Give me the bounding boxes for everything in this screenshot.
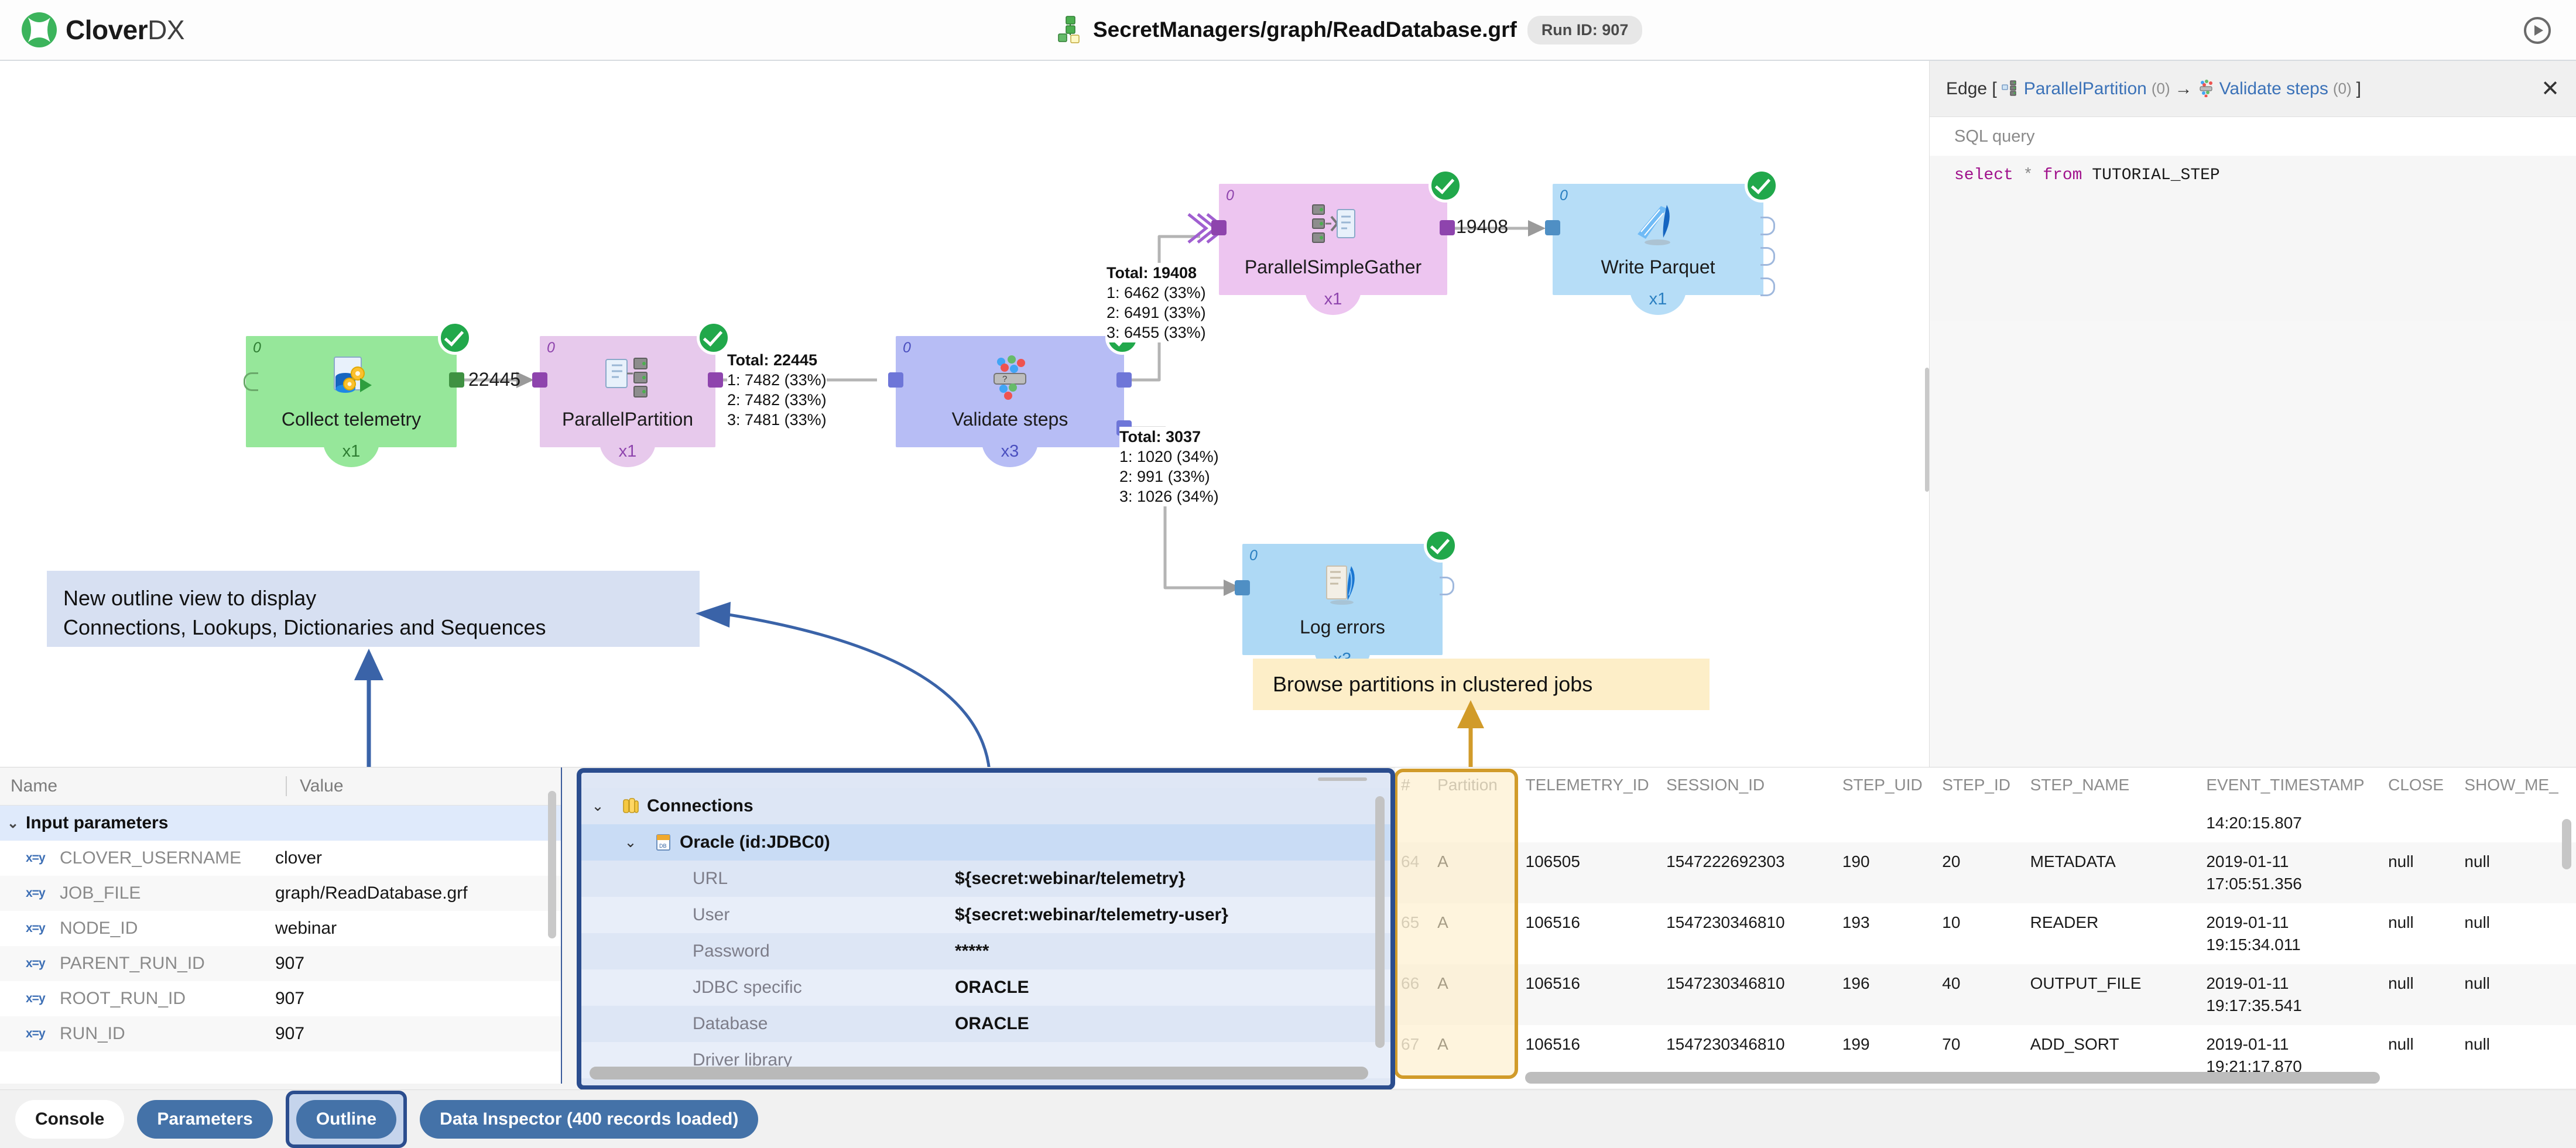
data-inspector-table: # Partition TELEMETRY_ID SESSION_ID STEP… bbox=[1395, 767, 2576, 1086]
cell-index bbox=[1395, 804, 1431, 842]
event-date: 2019-01-11 bbox=[2206, 974, 2289, 992]
edge-prefix: Edge [ bbox=[1946, 79, 1997, 99]
top-bar: CloverDX SecretManagers/graph/ReadDataba… bbox=[0, 0, 2576, 61]
outline-horizontal-scrollbar[interactable] bbox=[590, 1067, 1368, 1080]
close-icon[interactable]: ✕ bbox=[2541, 78, 2560, 100]
node-log-errors[interactable]: 0 Log errors x3 bbox=[1242, 544, 1443, 655]
outline-panel[interactable]: ⌄ Connections ⌄ DB Oracle (id:JDBC0) bbox=[577, 768, 1395, 1090]
edge-source-link[interactable]: ParallelPartition bbox=[2024, 79, 2147, 99]
edge-details-title: Edge [ ParallelPartition (0) → bbox=[1946, 79, 2361, 99]
run-id-badge: Run ID: 907 bbox=[1527, 16, 1643, 44]
event-time: 19:15:34.011 bbox=[2206, 935, 2300, 954]
parameters-panel[interactable]: Name Value ⌄ Input parameters x=y CLOVER… bbox=[0, 767, 562, 1084]
column-header-step-uid[interactable]: STEP_UID bbox=[1837, 767, 1936, 804]
status-ok-icon bbox=[438, 321, 472, 355]
cell-show-me: null bbox=[2458, 964, 2576, 1025]
sql-star: * bbox=[2023, 166, 2033, 184]
node-multiplicity: x1 bbox=[323, 441, 379, 467]
sql-keyword-from: from bbox=[2043, 166, 2082, 184]
play-circle-icon[interactable] bbox=[2523, 16, 2551, 44]
cell-step-id bbox=[1936, 804, 2024, 842]
parameters-vertical-scrollbar[interactable] bbox=[548, 791, 556, 938]
parameter-name: RUN_ID bbox=[60, 1024, 275, 1044]
cell-step-uid: 190 bbox=[1837, 842, 1936, 903]
node-label: Validate steps bbox=[896, 409, 1124, 430]
outline-connection-row[interactable]: ⌄ DB Oracle (id:JDBC0) bbox=[581, 824, 1390, 861]
edge-stats-total: Total: 19408 bbox=[1107, 264, 1197, 282]
cell-show-me: null bbox=[2458, 1025, 2576, 1086]
parameter-row[interactable]: x=y RUN_ID 907 bbox=[0, 1016, 561, 1051]
node-parallel-simple-gather[interactable]: 0 ParallelSimpleGather x1 bbox=[1219, 184, 1447, 295]
cell-index: 66 bbox=[1395, 964, 1431, 1025]
node-port-label: 0 bbox=[547, 340, 555, 357]
outline-property-row[interactable]: URL ${secret:webinar/telemetry} bbox=[581, 861, 1390, 897]
cell-partition: A bbox=[1431, 842, 1519, 903]
event-date: 2019-01-11 bbox=[2206, 852, 2289, 871]
parameter-value: clover bbox=[275, 848, 322, 868]
annotation-outline-callout: New outline view to display Connections,… bbox=[47, 571, 700, 647]
log-feather-icon bbox=[1318, 561, 1366, 609]
edge-stats-line: 3: 7481 (33%) bbox=[727, 410, 827, 430]
xy-variable-icon: x=y bbox=[26, 921, 60, 935]
cell-index: 64 bbox=[1395, 842, 1431, 903]
clover-logo-icon bbox=[21, 12, 57, 48]
cell-session-id: 1547230346810 bbox=[1660, 964, 1837, 1025]
annotation-text: Browse partitions in clustered jobs bbox=[1273, 672, 1592, 697]
node-output-port[interactable] bbox=[1440, 220, 1455, 235]
node-output-stub bbox=[1760, 277, 1775, 296]
event-date: 2019-01-11 bbox=[2206, 913, 2289, 931]
edge-stats-line: 1: 6462 (33%) bbox=[1107, 283, 1206, 303]
column-header-step-id[interactable]: STEP_ID bbox=[1936, 767, 2024, 804]
column-header-show-me[interactable]: SHOW_ME_ bbox=[2458, 767, 2576, 804]
edge-target-port: (0) bbox=[2333, 80, 2352, 98]
edge-details-panel: Edge [ ParallelPartition (0) → bbox=[1929, 61, 2576, 767]
edge-stats-validate-out1: Total: 3037 1: 1020 (34%) 2: 991 (33%) 3… bbox=[1119, 427, 1219, 506]
partition-icon bbox=[604, 354, 652, 402]
cell-step-id: 40 bbox=[1936, 964, 2024, 1025]
bottom-tab-bar: Console Parameters Outline Data Inspecto… bbox=[0, 1089, 2576, 1148]
node-collect-telemetry[interactable]: 0 Collect telemetry x1 bbox=[246, 336, 457, 447]
outline-connection-label: Oracle (id:JDBC0) bbox=[680, 832, 830, 852]
property-label: JDBC specific bbox=[693, 978, 802, 998]
property-label: User bbox=[693, 905, 729, 925]
status-ok-icon bbox=[1429, 169, 1462, 203]
outline-vertical-scrollbar[interactable] bbox=[1375, 796, 1385, 1048]
cell-partition: A bbox=[1431, 964, 1519, 1025]
parameter-name: PARENT_RUN_ID bbox=[60, 954, 275, 974]
cell-session-id bbox=[1660, 804, 1837, 842]
annotation-partitions-callout: Browse partitions in clustered jobs bbox=[1253, 659, 1710, 710]
edge-stats-line: 1: 1020 (34%) bbox=[1119, 447, 1219, 467]
node-input-port[interactable] bbox=[1545, 220, 1560, 235]
node-output-stub bbox=[1760, 247, 1775, 266]
cell-session-id: 1547230346810 bbox=[1660, 903, 1837, 964]
cell-partition bbox=[1431, 804, 1519, 842]
page-title: SecretManagers/graph/ReadDatabase.grf bbox=[1093, 18, 1517, 42]
database-read-icon bbox=[327, 354, 375, 402]
cell-close: null bbox=[2382, 903, 2458, 964]
tab-outline-highlight: Outline bbox=[286, 1091, 407, 1148]
node-label: Write Parquet bbox=[1553, 256, 1763, 278]
node-output-stub bbox=[1760, 217, 1775, 235]
property-label: Database bbox=[693, 1014, 768, 1034]
cell-step-uid: 196 bbox=[1837, 964, 1936, 1025]
edge-record-count: 19408 bbox=[1456, 216, 1508, 238]
data-inspector-panel[interactable]: # Partition TELEMETRY_ID SESSION_ID STEP… bbox=[1395, 767, 2576, 1088]
column-header-step-name[interactable]: STEP_NAME bbox=[2025, 767, 2201, 804]
cell-event-timestamp: 14:20:15.807 bbox=[2200, 804, 2382, 842]
column-header-session-id[interactable]: SESSION_ID bbox=[1660, 767, 1837, 804]
sql-query-code: select * from TUTORIAL_STEP bbox=[1930, 156, 2576, 321]
validate-node-icon bbox=[2197, 79, 2215, 99]
tab-parameters[interactable]: Parameters bbox=[137, 1100, 272, 1139]
outline-root-label: Connections bbox=[647, 796, 753, 816]
cell-session-id: 1547222692303 bbox=[1660, 842, 1837, 903]
cell-telemetry-id: 106516 bbox=[1520, 903, 1661, 964]
node-multiplicity: x1 bbox=[1630, 289, 1686, 315]
property-label: Password bbox=[693, 941, 770, 961]
cell-telemetry-id: 106516 bbox=[1520, 964, 1661, 1025]
parameter-row[interactable]: x=y NODE_ID webinar bbox=[0, 911, 561, 946]
parameter-value: webinar bbox=[275, 919, 337, 938]
node-input-port[interactable] bbox=[1211, 220, 1227, 235]
validate-nodes-icon: ? bbox=[986, 354, 1034, 402]
cell-partition: A bbox=[1431, 1025, 1519, 1086]
cell-close: null bbox=[2382, 1025, 2458, 1086]
tab-data-inspector[interactable]: Data Inspector (400 records loaded) bbox=[420, 1100, 758, 1139]
outline-property-row[interactable]: Database ORACLE bbox=[581, 1006, 1390, 1042]
annotation-line-2: Connections, Lookups, Dictionaries and S… bbox=[63, 613, 683, 642]
cell-step-id: 20 bbox=[1936, 842, 2024, 903]
tab-console[interactable]: Console bbox=[15, 1100, 124, 1139]
node-multiplicity: x1 bbox=[600, 441, 656, 467]
edge-source-port: (0) bbox=[2152, 80, 2170, 98]
xy-variable-icon: x=y bbox=[26, 957, 60, 971]
node-input-port[interactable] bbox=[1235, 580, 1250, 595]
svg-text:DB: DB bbox=[659, 843, 667, 849]
jdbc-db-icon: DB bbox=[647, 832, 680, 852]
parameters-group-row[interactable]: ⌄ Input parameters bbox=[0, 806, 561, 841]
parameter-row[interactable]: x=y PARENT_RUN_ID 907 bbox=[0, 946, 561, 981]
sql-keyword-select: select bbox=[1954, 166, 2013, 184]
graph-title-wrap: SecretManagers/graph/ReadDatabase.grf Ru… bbox=[1057, 15, 1642, 44]
cell-close: null bbox=[2382, 842, 2458, 903]
node-write-parquet[interactable]: 0 Write Parquet x1 bbox=[1553, 184, 1763, 295]
cell-step-name bbox=[2025, 804, 2201, 842]
edge-stats-partition-out: Total: 22445 1: 7482 (33%) 2: 7482 (33%)… bbox=[727, 350, 827, 430]
parameter-name: JOB_FILE bbox=[60, 883, 275, 903]
node-output-port[interactable] bbox=[449, 372, 464, 388]
logo-text-main: Clover bbox=[66, 15, 148, 45]
property-value: ${secret:webinar/telemetry-user} bbox=[955, 905, 1228, 925]
node-label: Collect telemetry bbox=[246, 409, 457, 430]
parameter-row[interactable]: x=y CLOVER_USERNAME clover bbox=[0, 841, 561, 876]
node-port-label: 0 bbox=[1226, 187, 1234, 204]
arrow-right-icon: → bbox=[2175, 79, 2193, 99]
property-value: ${secret:webinar/telemetry} bbox=[955, 869, 1186, 889]
outline-property-row[interactable]: Password ***** bbox=[581, 933, 1390, 969]
partition-node-icon bbox=[2002, 79, 2019, 99]
status-ok-icon bbox=[1745, 169, 1779, 203]
property-value: ORACLE bbox=[955, 1014, 1029, 1034]
parquet-feather-icon bbox=[1634, 201, 1682, 249]
cell-index: 65 bbox=[1395, 903, 1431, 964]
parameter-name: NODE_ID bbox=[60, 919, 275, 938]
edge-stats-total: Total: 22445 bbox=[727, 351, 817, 369]
node-label: ParallelSimpleGather bbox=[1219, 256, 1447, 278]
cell-event-timestamp: 2019-01-1119:17:35.541 bbox=[2200, 964, 2382, 1025]
svg-text:?: ? bbox=[1002, 374, 1007, 384]
cell-event-timestamp: 2019-01-1119:15:34.011 bbox=[2200, 903, 2382, 964]
outline-root-row[interactable]: ⌄ Connections bbox=[581, 788, 1390, 824]
node-port-label: 0 bbox=[1249, 547, 1258, 564]
column-header-close[interactable]: CLOSE bbox=[2382, 767, 2458, 804]
node-port-label: 0 bbox=[903, 340, 911, 357]
parameter-value: graph/ReadDatabase.grf bbox=[275, 883, 468, 903]
status-ok-icon bbox=[697, 321, 731, 355]
node-output-port-0[interactable] bbox=[1116, 372, 1132, 388]
cell-step-name: READER bbox=[2025, 903, 2201, 964]
graph-file-icon bbox=[1057, 15, 1083, 44]
cell-close bbox=[2382, 804, 2458, 842]
cell-telemetry-id: 106505 bbox=[1520, 842, 1661, 903]
node-output-stub bbox=[1440, 577, 1454, 595]
cell-index: 67 bbox=[1395, 1025, 1431, 1086]
edge-details-header: Edge [ ParallelPartition (0) → bbox=[1930, 61, 2576, 117]
connections-folder-icon bbox=[614, 796, 647, 816]
parameter-name: CLOVER_USERNAME bbox=[60, 848, 275, 868]
cell-event-timestamp: 2019-01-1117:05:51.356 bbox=[2200, 842, 2382, 903]
node-parallel-partition[interactable]: 0 ParallelPartition x1 bbox=[540, 336, 715, 447]
node-port-label: 0 bbox=[1560, 187, 1568, 204]
xy-variable-icon: x=y bbox=[26, 992, 60, 1006]
cell-step-uid: 193 bbox=[1837, 903, 1936, 964]
xy-variable-icon: x=y bbox=[26, 851, 60, 865]
node-label: Log errors bbox=[1242, 616, 1443, 638]
parameter-row[interactable]: x=y ROOT_RUN_ID 907 bbox=[0, 981, 561, 1016]
chevron-down-icon[interactable]: ⌄ bbox=[0, 815, 26, 832]
chevron-down-icon[interactable]: ⌄ bbox=[581, 797, 614, 815]
edge-stats-line: 1: 7482 (33%) bbox=[727, 370, 827, 390]
node-input-port[interactable] bbox=[888, 372, 903, 388]
table-row[interactable]: 66 A 106516 1547230346810 196 40 OUTPUT_… bbox=[1395, 964, 2576, 1025]
cell-show-me: null bbox=[2458, 903, 2576, 964]
app-logo[interactable]: CloverDX bbox=[21, 12, 184, 48]
parameters-group-label: Input parameters bbox=[26, 813, 260, 833]
status-ok-icon bbox=[1424, 529, 1458, 563]
column-header-telemetry-id[interactable]: TELEMETRY_ID bbox=[1520, 767, 1661, 804]
bottom-dock: Name Value ⌄ Input parameters x=y CLOVER… bbox=[0, 767, 2576, 1148]
node-port-label: 0 bbox=[253, 340, 261, 357]
edge-stats-line: 2: 991 (33%) bbox=[1119, 467, 1219, 486]
chevron-down-icon[interactable]: ⌄ bbox=[614, 834, 647, 851]
parameter-name: ROOT_RUN_ID bbox=[60, 989, 275, 1009]
edge-stats-line: 2: 7482 (33%) bbox=[727, 390, 827, 410]
logo-text-accent: DX bbox=[148, 15, 184, 45]
canvas-vertical-scrollbar[interactable] bbox=[1925, 368, 1929, 492]
event-time: 19:17:35.541 bbox=[2206, 996, 2302, 1015]
panel-resize-grip[interactable] bbox=[1318, 777, 1367, 781]
edge-suffix: ] bbox=[2356, 79, 2361, 99]
node-input-port-stub bbox=[244, 372, 258, 391]
column-header-event-timestamp[interactable]: EVENT_TIMESTAMP bbox=[2200, 767, 2382, 804]
parameter-value: 907 bbox=[275, 954, 304, 974]
node-input-port[interactable] bbox=[532, 372, 547, 388]
cell-close: null bbox=[2382, 964, 2458, 1025]
table-row[interactable]: 64 A 106505 1547222692303 190 20 METADAT… bbox=[1395, 842, 2576, 903]
cell-step-name: METADATA bbox=[2025, 842, 2201, 903]
node-multiplicity: x1 bbox=[1305, 289, 1361, 315]
table-row[interactable]: 65 A 106516 1547230346810 193 10 READER … bbox=[1395, 903, 2576, 964]
cell-show-me bbox=[2458, 804, 2576, 842]
property-value: ORACLE bbox=[955, 978, 1029, 998]
edge-stats-line: 2: 6491 (33%) bbox=[1107, 303, 1206, 323]
edge-stats-total: Total: 3037 bbox=[1119, 428, 1201, 446]
xy-variable-icon: x=y bbox=[26, 1027, 60, 1041]
column-header-partition[interactable]: Partition bbox=[1431, 767, 1519, 804]
inspector-horizontal-scrollbar[interactable] bbox=[1525, 1072, 2380, 1084]
sql-table-name: TUTORIAL_STEP bbox=[2092, 166, 2219, 184]
property-value: ***** bbox=[955, 941, 989, 961]
sql-query-section-label: SQL query bbox=[1930, 117, 2576, 156]
xy-variable-icon: x=y bbox=[26, 886, 60, 900]
column-header-value: Value bbox=[287, 776, 344, 796]
inspector-vertical-scrollbar[interactable] bbox=[2562, 819, 2571, 869]
cell-show-me: null bbox=[2458, 842, 2576, 903]
node-validate-steps[interactable]: 0 ? Validate steps x3 bbox=[896, 336, 1124, 447]
outline-property-row[interactable]: User ${secret:webinar/telemetry-user} bbox=[581, 897, 1390, 933]
edge-target-link[interactable]: Validate steps bbox=[2219, 79, 2328, 99]
gather-icon bbox=[1309, 201, 1357, 249]
parameter-row[interactable]: x=y JOB_FILE graph/ReadDatabase.grf bbox=[0, 876, 561, 911]
column-header-name: Name bbox=[0, 776, 286, 796]
cell-telemetry-id bbox=[1520, 804, 1661, 842]
property-label: URL bbox=[693, 869, 728, 889]
annotation-line-1: New outline view to display bbox=[63, 584, 683, 613]
event-date: 2019-01-11 bbox=[2206, 1035, 2289, 1053]
edge-stats-validate-out0: Total: 19408 1: 6462 (33%) 2: 6491 (33%)… bbox=[1107, 263, 1206, 342]
node-label: ParallelPartition bbox=[540, 409, 715, 430]
outline-property-row[interactable]: JDBC specific ORACLE bbox=[581, 969, 1390, 1006]
parameter-value: 907 bbox=[275, 989, 304, 1009]
cell-step-uid bbox=[1837, 804, 1936, 842]
cell-step-id: 10 bbox=[1936, 903, 2024, 964]
edge-stats-line: 3: 6455 (33%) bbox=[1107, 323, 1206, 342]
column-header-index[interactable]: # bbox=[1395, 767, 1431, 804]
table-header-row: # Partition TELEMETRY_ID SESSION_ID STEP… bbox=[1395, 767, 2576, 804]
parameter-value: 907 bbox=[275, 1024, 304, 1044]
tab-outline[interactable]: Outline bbox=[296, 1100, 396, 1139]
event-time: 17:05:51.356 bbox=[2206, 875, 2302, 893]
node-output-port[interactable] bbox=[708, 372, 723, 388]
cell-step-name: OUTPUT_FILE bbox=[2025, 964, 2201, 1025]
parameters-table-header: Name Value bbox=[0, 767, 561, 806]
node-multiplicity: x3 bbox=[982, 441, 1038, 467]
edge-record-count: 22445 bbox=[468, 369, 520, 390]
cell-partition: A bbox=[1431, 903, 1519, 964]
edge-stats-line: 3: 1026 (34%) bbox=[1119, 486, 1219, 506]
table-row-partial[interactable]: 14:20:15.807 bbox=[1395, 804, 2576, 842]
app-logo-text: CloverDX bbox=[66, 14, 184, 46]
